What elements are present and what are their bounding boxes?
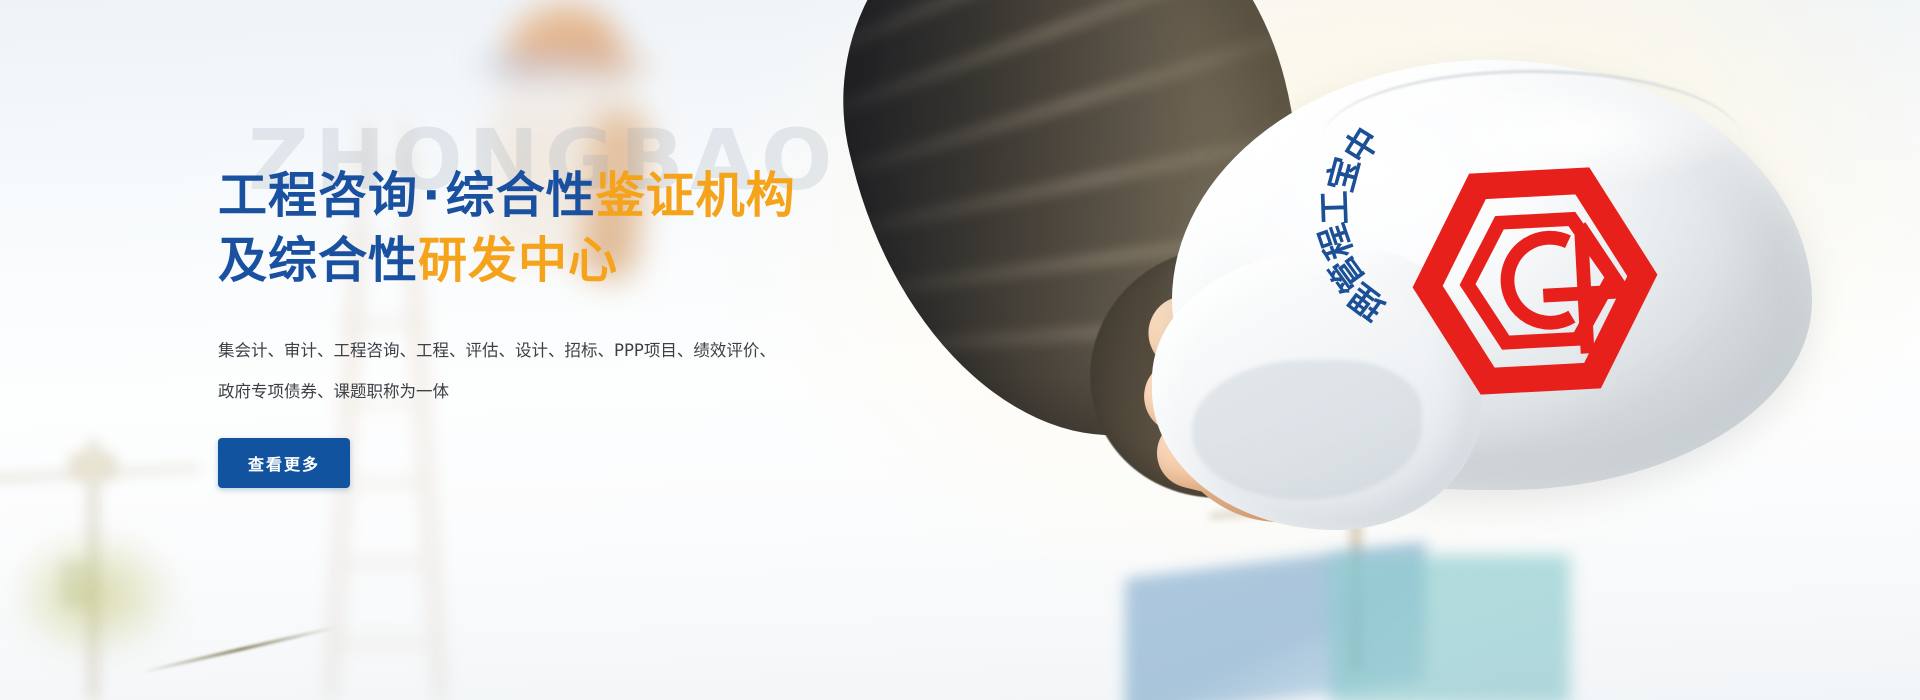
headline-line-2: 及综合性研发中心 [218,229,978,294]
subcopy-line-1: 集会计、审计、工程咨询、工程、评估、设计、招标、PPP项目、绩效评价、 [218,331,818,371]
hand-holding-helmet-photo: 中宝工程管理 [840,0,1920,700]
headline-separator: · [418,167,446,224]
subcopy: 集会计、审计、工程咨询、工程、评估、设计、招标、PPP项目、绩效评价、 政府专项… [218,331,818,412]
safety-helmet: 中宝工程管理 [1162,60,1822,530]
subcopy-line-2: 政府专项债券、课题职称为一体 [218,372,818,412]
headline-line-1: 工程咨询·综合性鉴证机构 [218,164,978,229]
headline-line2-part1: 及综合性 [218,232,418,289]
headline-line1-part2: 综合性 [446,167,596,224]
zhongbao-hexagon-logo [1410,156,1660,406]
headline-line1-part1: 工程咨询 [218,167,418,224]
headline: 工程咨询·综合性鉴证机构 及综合性研发中心 [218,164,978,293]
hero-copy-block: ZHONGBAO 工程咨询·综合性鉴证机构 及综合性研发中心 集会计、审计、工程… [218,118,978,488]
view-more-button[interactable]: 查看更多 [218,438,350,488]
headline-line1-part3: 鉴证机构 [596,167,796,224]
background-foliage-blur [10,530,180,660]
hero-banner: 中宝工程管理 [0,0,1920,700]
headline-line2-part2: 研发中心 [418,232,618,289]
